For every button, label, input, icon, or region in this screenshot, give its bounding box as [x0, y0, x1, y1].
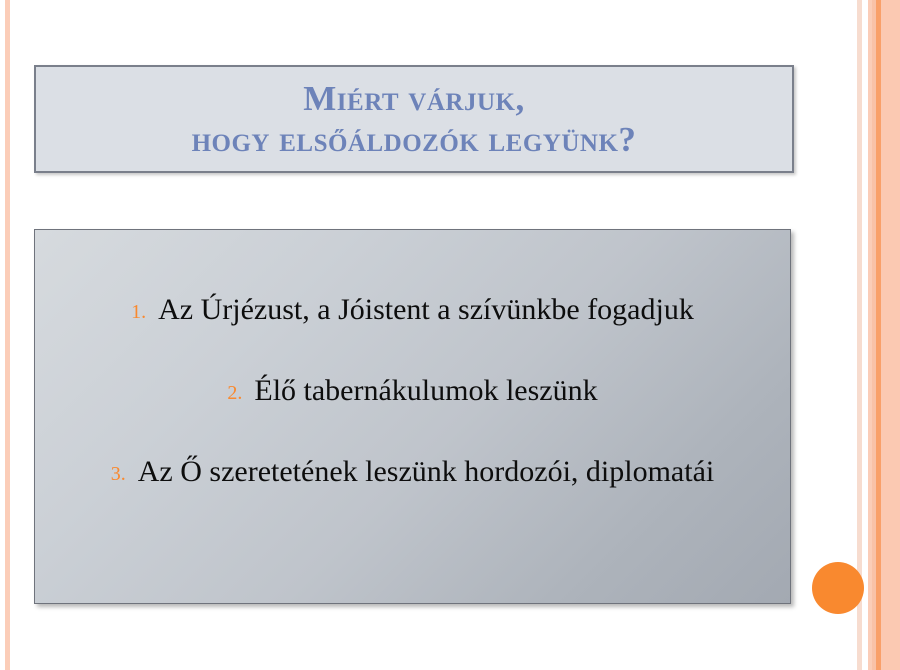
list-item: 1. Az Úrjézust, a Jóistent a szívünkbe f…: [61, 290, 764, 329]
list-item-text: Élő tabernákulumok leszünk: [254, 371, 597, 410]
presentation-slide: Miért várjuk, hogy elsőáldozók legyünk? …: [0, 0, 900, 670]
list-item: 3. Az Ő szeretetének leszünk hordozói, d…: [61, 452, 764, 491]
list-item-marker: 3.: [111, 452, 126, 487]
slide-title-line-2: hogy elsőáldozók legyünk?: [192, 119, 637, 160]
decorative-stripe-left: [5, 0, 10, 670]
decorative-stripe-right-fill: [881, 0, 900, 670]
slide-title: Miért várjuk, hogy elsőáldozók legyünk?: [182, 78, 647, 161]
list-item: 2. Élő tabernákulumok leszünk: [61, 371, 764, 410]
orange-circle-icon: [812, 562, 864, 614]
slide-title-line-1: Miért várjuk,: [192, 78, 637, 119]
list-item-text: Az Úrjézust, a Jóistent a szívünkbe foga…: [158, 290, 694, 329]
slide-title-box: Miért várjuk, hogy elsőáldozók legyünk?: [34, 65, 794, 173]
numbered-list: 1. Az Úrjézust, a Jóistent a szívünkbe f…: [61, 268, 764, 491]
list-item-marker: 2.: [227, 371, 242, 406]
slide-content-box: 1. Az Úrjézust, a Jóistent a szívünkbe f…: [34, 229, 791, 604]
list-item-marker: 1.: [131, 290, 146, 325]
list-item-text: Az Ő szeretetének leszünk hordozói, dipl…: [138, 452, 714, 491]
decorative-stripe-right-outer: [857, 0, 862, 670]
